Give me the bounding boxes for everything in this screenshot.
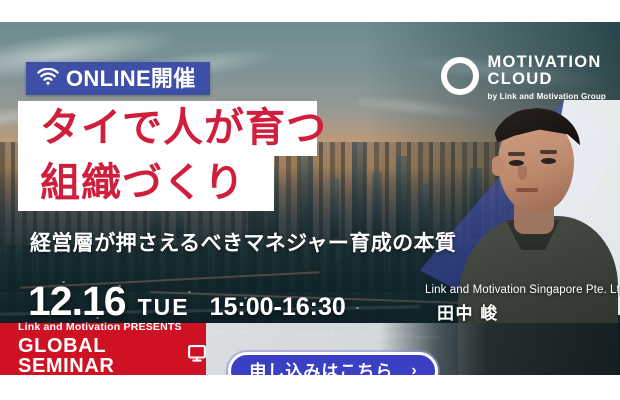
portrait-eye-right (541, 158, 556, 164)
portrait-brow-right (540, 150, 557, 154)
presents-label: Link and Motivation PRESENTS (18, 322, 206, 333)
portrait-nose (518, 166, 527, 180)
online-badge: ONLINE開催 (26, 62, 210, 95)
title-line-2: 組織づくり (18, 156, 274, 211)
portrait-mouth (516, 188, 538, 192)
global-seminar-block: Link and Motivation PRESENTS GLOBAL SEMI… (0, 323, 206, 375)
event-day: TUE (138, 296, 190, 319)
apply-button[interactable]: 申し込みはこちら › (228, 352, 438, 375)
schedule-row: 12.16 TUE 15:00-16:30 (28, 281, 346, 322)
logo-line-2: CLOUD (488, 71, 607, 88)
ring-icon (441, 57, 479, 95)
speaker-info: Link and Motivation Singapore Pte. Ltd. … (425, 284, 620, 324)
logo-line-1: MOTIVATION (488, 54, 607, 71)
title-line-1: タイで人が育つ (18, 101, 317, 156)
apply-button-label: 申し込みはこちら (249, 363, 393, 376)
chevron-right-icon: › (411, 363, 416, 375)
event-date: 12.16 (28, 281, 126, 322)
series-title: GLOBAL SEMINAR (18, 336, 186, 375)
event-time: 15:00-16:30 (210, 295, 346, 320)
logo-text-block: MOTIVATION CLOUD by Link and Motivation … (488, 54, 607, 101)
portrait-ear (492, 156, 504, 176)
subtitle: 経営層が押さえるべきマネジャー育成の本質 (30, 227, 456, 257)
logo-subtitle: by Link and Motivation Group (488, 92, 607, 101)
series-title-row: GLOBAL SEMINAR (18, 336, 206, 375)
speaker-name: 田中 峻 (437, 299, 620, 324)
banner-artwork: ONLINE開催 タイで人が育つ 組織づくり 経営層が押さえるべきマネジャー育成… (0, 22, 620, 375)
seminar-banner: ONLINE開催 タイで人が育つ 組織づくり 経営層が押さえるべきマネジャー育成… (0, 0, 620, 400)
portrait-brow-left (508, 152, 525, 156)
wifi-icon (37, 68, 59, 90)
online-badge-label: ONLINE開催 (66, 68, 196, 90)
speaker-company: Link and Motivation Singapore Pte. Ltd. (425, 284, 620, 296)
motivation-cloud-logo: MOTIVATION CLOUD by Link and Motivation … (441, 54, 607, 101)
monitor-icon (188, 345, 206, 367)
